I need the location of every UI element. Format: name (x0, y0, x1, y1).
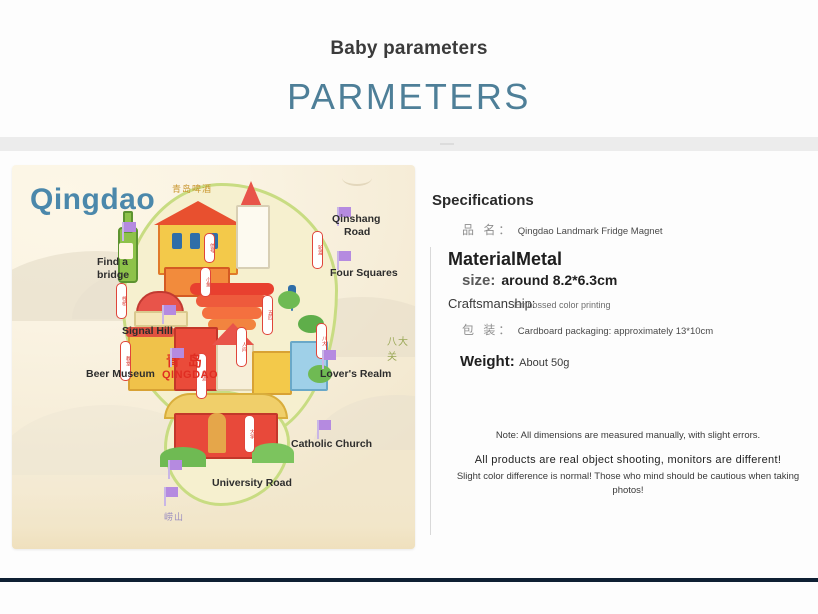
script-bada-cn: 八大关 (387, 333, 415, 363)
tree (278, 291, 300, 309)
spec-size-value: around 8.2*6.3cm (501, 272, 617, 288)
page-header: Baby parameters PARMETERS (0, 0, 818, 137)
product-map-image: Qingdao (12, 165, 415, 549)
map-pin-flag (162, 305, 176, 315)
place-label-beer-museum: Beer Museum (86, 368, 155, 381)
green-hill (252, 443, 294, 463)
townhouse (216, 343, 254, 391)
spec-craft-value: Embossed color printing (514, 300, 611, 310)
map-pin-flag (322, 350, 336, 360)
map-pin-flag (168, 460, 182, 470)
spec-row-name: 品 名： Qingdao Landmark Fridge Magnet (448, 221, 806, 239)
spec-row-weight: Weight: About 50g (448, 353, 806, 371)
spec-name-label: 品 名： (462, 223, 513, 237)
spec-material-value: Metal (516, 249, 562, 269)
place-label-university-road: University Road (212, 477, 292, 490)
place-label-signal-hill: Signal Hill (122, 325, 173, 338)
map-pin-flag (122, 222, 136, 232)
script-beer-cn: 青岛啤酒 (172, 182, 212, 195)
spec-pack-label: 包 装： (462, 323, 513, 337)
notes-section: Note: All dimensions are measured manual… (448, 430, 808, 499)
note-line-2: All products are real object shooting, m… (448, 454, 808, 466)
place-label-lovers-realm: Lover's Realm (320, 368, 391, 381)
note-line-1: Note: All dimensions are measured manual… (448, 430, 808, 441)
specifications-section: Specifications 品 名： Qingdao Landmark Fri… (430, 192, 806, 373)
footer-accent-bar (0, 578, 818, 582)
map-pin-flag (164, 487, 178, 497)
lantern-sign: 栈桥 (116, 283, 127, 319)
townhouse-roof (212, 323, 254, 345)
specifications-title: Specifications (432, 192, 806, 209)
spec-material-label: Material: (448, 249, 522, 269)
lantern-sign: 五四 (262, 295, 273, 335)
place-label-catholic-church: Catholic Church (291, 438, 372, 451)
place-label-qinshang-road: Qinshang Road (332, 213, 380, 239)
place-label-find-a-bridge: Find a bridge (97, 256, 129, 282)
page-subtitle: Baby parameters (0, 38, 818, 60)
pagoda-window (190, 233, 200, 249)
spec-weight-value: About 50g (519, 357, 569, 369)
church-spire (240, 181, 262, 207)
divider-nub (440, 143, 454, 145)
lantern-sign: 小鱼 (200, 267, 211, 297)
place-label-line1: Find a (97, 256, 128, 268)
place-label-line1: Qinshang (332, 213, 380, 225)
pagoda-roof (154, 201, 242, 225)
note-line-3: Slight color difference is normal! Those… (448, 470, 808, 499)
green-hill (160, 447, 206, 467)
spec-pack-value: Cardboard packaging: approximately 13*10… (518, 326, 713, 337)
monk-figure (208, 413, 226, 453)
brand-name-en: QINGDAO (162, 369, 218, 381)
spec-row-packaging: 包 装： Cardboard packaging: approximately … (448, 321, 806, 339)
lantern-sign: 大学 (244, 415, 255, 453)
spec-row-craftsmanship: Craftsmanship: Embossed color printing (448, 296, 806, 314)
map-pin-flag (317, 420, 331, 430)
lantern-sign: 信号 (204, 233, 215, 263)
plaza-building (202, 307, 262, 319)
place-label-line2: Road (344, 226, 370, 239)
place-label-four-squares: Four Squares (330, 267, 398, 280)
specifications-body: 品 名： Qingdao Landmark Fridge Magnet Mate… (430, 221, 806, 371)
header-divider-band (0, 137, 818, 151)
script-laoshan-cn: 崂山 (164, 510, 184, 523)
spec-row-size: size:around 8.2*6.3cm (448, 272, 806, 290)
spec-row-material: Material:Metal (448, 249, 806, 270)
map-pin-flag (337, 251, 351, 261)
specifications-divider-line (430, 247, 431, 535)
spec-name-value: Qingdao Landmark Fridge Magnet (518, 226, 663, 237)
lantern-sign: 人间 (236, 327, 247, 367)
townhouse (252, 351, 292, 395)
product-detail-page: Baby parameters PARMETERS Qingdao (0, 0, 818, 614)
page-title: PARMETERS (0, 76, 818, 118)
map-pin-flag (170, 348, 184, 358)
tower-building (236, 205, 270, 269)
lantern-sign: 轮渡 (312, 231, 323, 269)
place-label-line2: bridge (97, 269, 129, 281)
pagoda-window (172, 233, 182, 249)
spec-size-label: size: (462, 272, 495, 289)
spec-weight-label: Weight: (460, 353, 515, 370)
